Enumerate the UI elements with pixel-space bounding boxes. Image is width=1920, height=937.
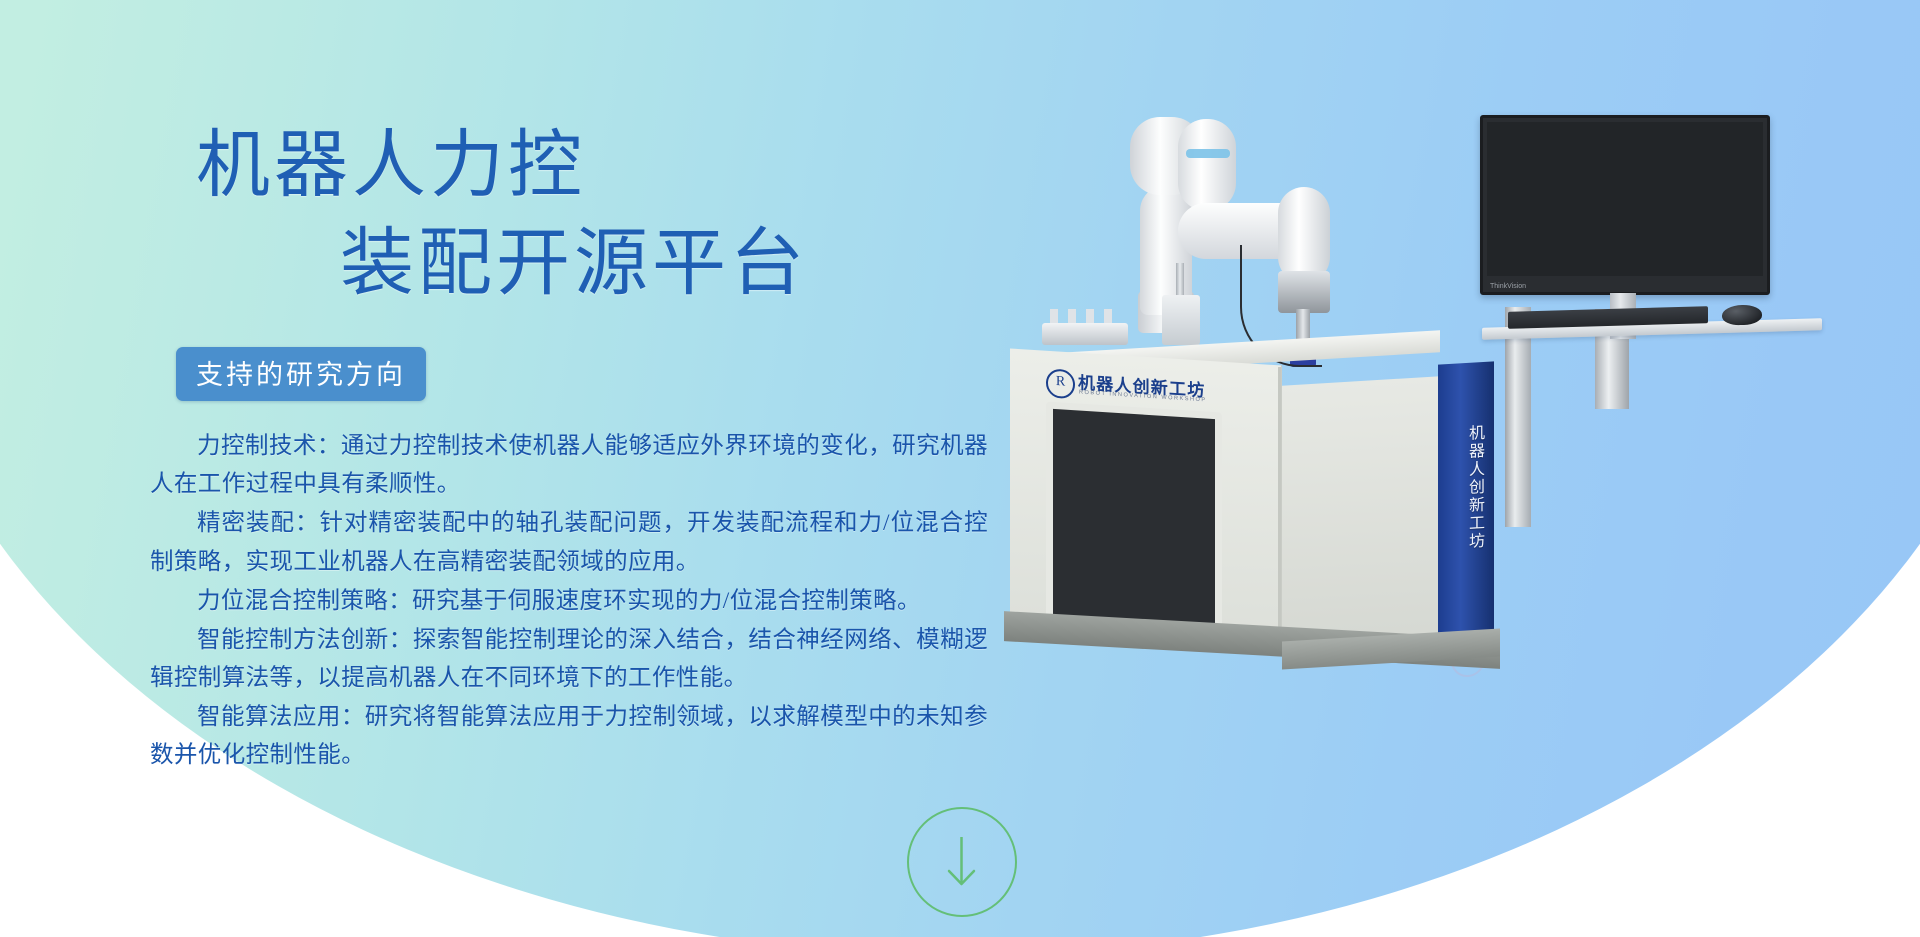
robot-arm-accent-ring bbox=[1186, 149, 1230, 158]
assembly-fixture-center bbox=[1162, 295, 1200, 345]
hero-banner: 机器人力控 装配开源平台 支持的研究方向 力控制技术：通过力控制技术使机器人能够… bbox=[0, 0, 1920, 937]
monitor-brand-label: ThinkVision bbox=[1490, 283, 1526, 290]
brand-mark-icon: R bbox=[1046, 368, 1075, 399]
research-direction-item: 力控制技术：通过力控制技术使机器人能够适应外界环境的变化，研究机器人在工作过程中… bbox=[150, 427, 988, 503]
assembly-fixture-stem bbox=[1176, 263, 1184, 299]
research-directions-list: 力控制技术：通过力控制技术使机器人能够适应外界环境的变化，研究机器人在工作过程中… bbox=[150, 427, 988, 774]
cabinet-right-panel bbox=[1282, 376, 1440, 653]
research-direction-item: 智能控制方法创新：探索智能控制理论的深入结合，结合神经网络、模糊逻辑控制算法等，… bbox=[150, 621, 988, 697]
robot-arm-elbow-joint bbox=[1178, 119, 1236, 211]
monitor: ThinkVision bbox=[1480, 115, 1770, 295]
page-title-line-1: 机器人力控 bbox=[196, 118, 1010, 216]
monitor-screen bbox=[1487, 122, 1763, 276]
cabinet-panel-divider bbox=[1278, 367, 1281, 647]
cabinet-viewing-window bbox=[1046, 401, 1222, 632]
research-direction-item: 力位混合控制策略：研究基于伺服速度环实现的力/位混合控制策略。 bbox=[150, 582, 988, 620]
section-badge-research-directions: 支持的研究方向 bbox=[176, 347, 426, 401]
robot-platform-photo: ThinkVision R 机器人创新工坊 ROBOT INNOV bbox=[1010, 95, 1840, 795]
research-direction-item: 智能算法应用：研究将智能算法应用于力控制领域，以求解模型中的未知参数并优化控制性… bbox=[150, 698, 988, 774]
arrow-down-icon bbox=[909, 809, 1014, 914]
research-direction-item: 精密装配：针对精密装配中的轴孔装配问题，开发装配流程和力/位混合控制策略，实现工… bbox=[150, 504, 988, 580]
page-title-line-2: 装配开源平台 bbox=[340, 216, 1010, 314]
hero-copy: 机器人力控 装配开源平台 支持的研究方向 力控制技术：通过力控制技术使机器人能够… bbox=[150, 118, 1010, 775]
scroll-down-button[interactable] bbox=[907, 807, 1017, 917]
assembly-fixture-left bbox=[1042, 323, 1128, 345]
cabinet-side-panel-text: 机器人创新工坊 bbox=[1446, 424, 1486, 636]
monitor-support-arm bbox=[1505, 307, 1531, 527]
